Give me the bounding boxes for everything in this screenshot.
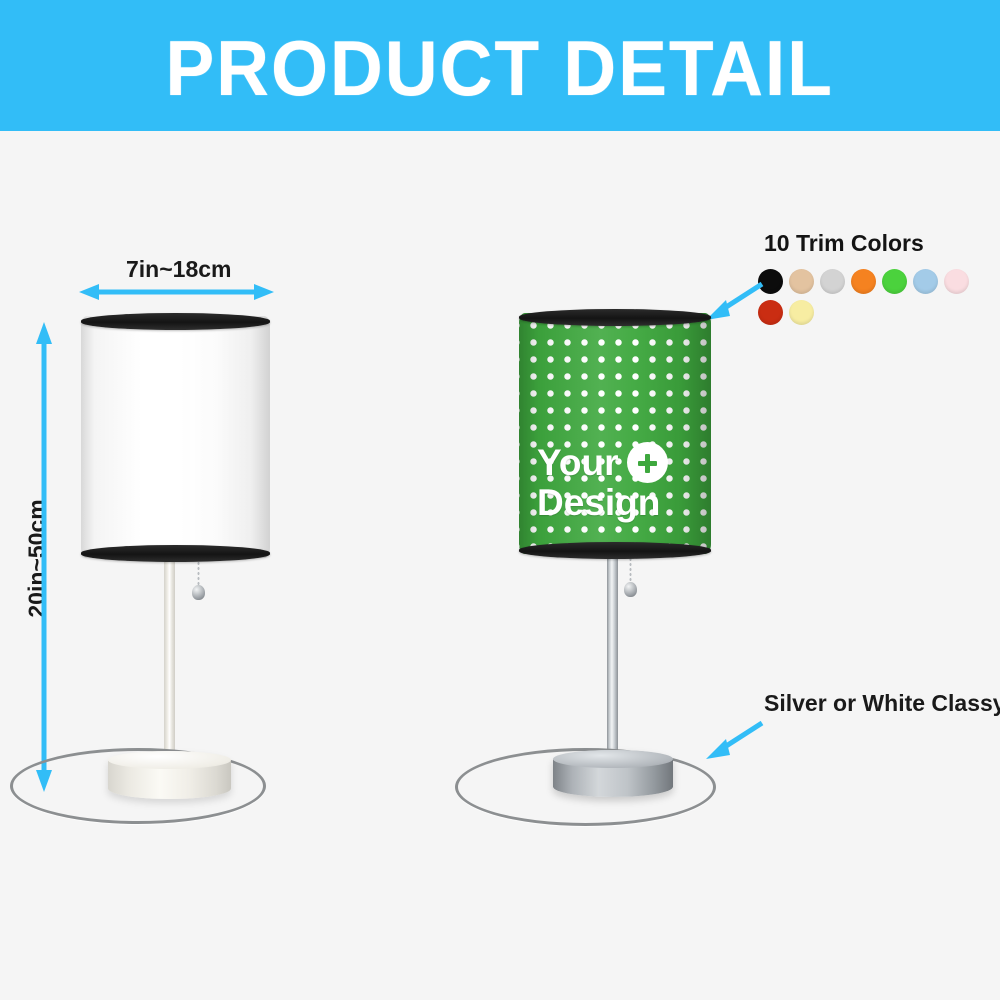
- white-lamp-base: [108, 751, 231, 799]
- white-lamp-chain-knob: [192, 585, 205, 600]
- swatch-light-gray[interactable]: [820, 269, 845, 294]
- shade-width-label: 7in~18cm: [126, 256, 232, 283]
- design-line-2: Design: [537, 483, 668, 523]
- page-title: PRODUCT DETAIL: [166, 29, 835, 107]
- swatch-orange[interactable]: [851, 269, 876, 294]
- swatch-yellow[interactable]: [789, 300, 814, 325]
- green-shade-bottom-trim: [519, 542, 711, 559]
- plus-icon: [627, 442, 668, 483]
- shade-width-arrow: [79, 282, 274, 302]
- white-shade-top-trim: [81, 313, 270, 330]
- lamp-height-arrow: [34, 322, 54, 792]
- white-lamp-shade: [81, 316, 270, 558]
- green-lamp-base: [553, 750, 673, 797]
- swatch-tan[interactable]: [789, 269, 814, 294]
- header-banner: PRODUCT DETAIL: [0, 0, 1000, 131]
- white-lamp-stem: [164, 554, 175, 764]
- white-shade-bottom-trim: [81, 545, 270, 562]
- green-lamp-chain-knob: [624, 582, 637, 597]
- your-design-mark: Your Design: [537, 442, 668, 523]
- white-shade-surface: [81, 316, 270, 558]
- base-finish-arrow: [700, 717, 770, 762]
- trim-colors-title: 10 Trim Colors: [764, 230, 998, 257]
- green-shade-top-trim: [519, 309, 711, 326]
- product-detail-page: PRODUCT DETAIL: [0, 0, 1000, 1000]
- trim-color-swatch-grid: [758, 269, 998, 325]
- trim-colors-block: 10 Trim Colors: [758, 230, 998, 325]
- green-lamp-stem: [607, 550, 618, 763]
- white-lamp-base-top: [108, 751, 231, 769]
- base-finish-label: Silver or White Classy: [764, 690, 1000, 717]
- swatch-light-blue[interactable]: [913, 269, 938, 294]
- design-line-1: Your: [537, 443, 619, 483]
- design-line-1-row: Your: [537, 442, 668, 483]
- green-lamp-base-top: [553, 750, 673, 768]
- white-shade-body: [81, 316, 270, 558]
- green-lamp-shade: Your Design: [519, 313, 711, 554]
- swatch-green[interactable]: [882, 269, 907, 294]
- swatch-pink[interactable]: [944, 269, 969, 294]
